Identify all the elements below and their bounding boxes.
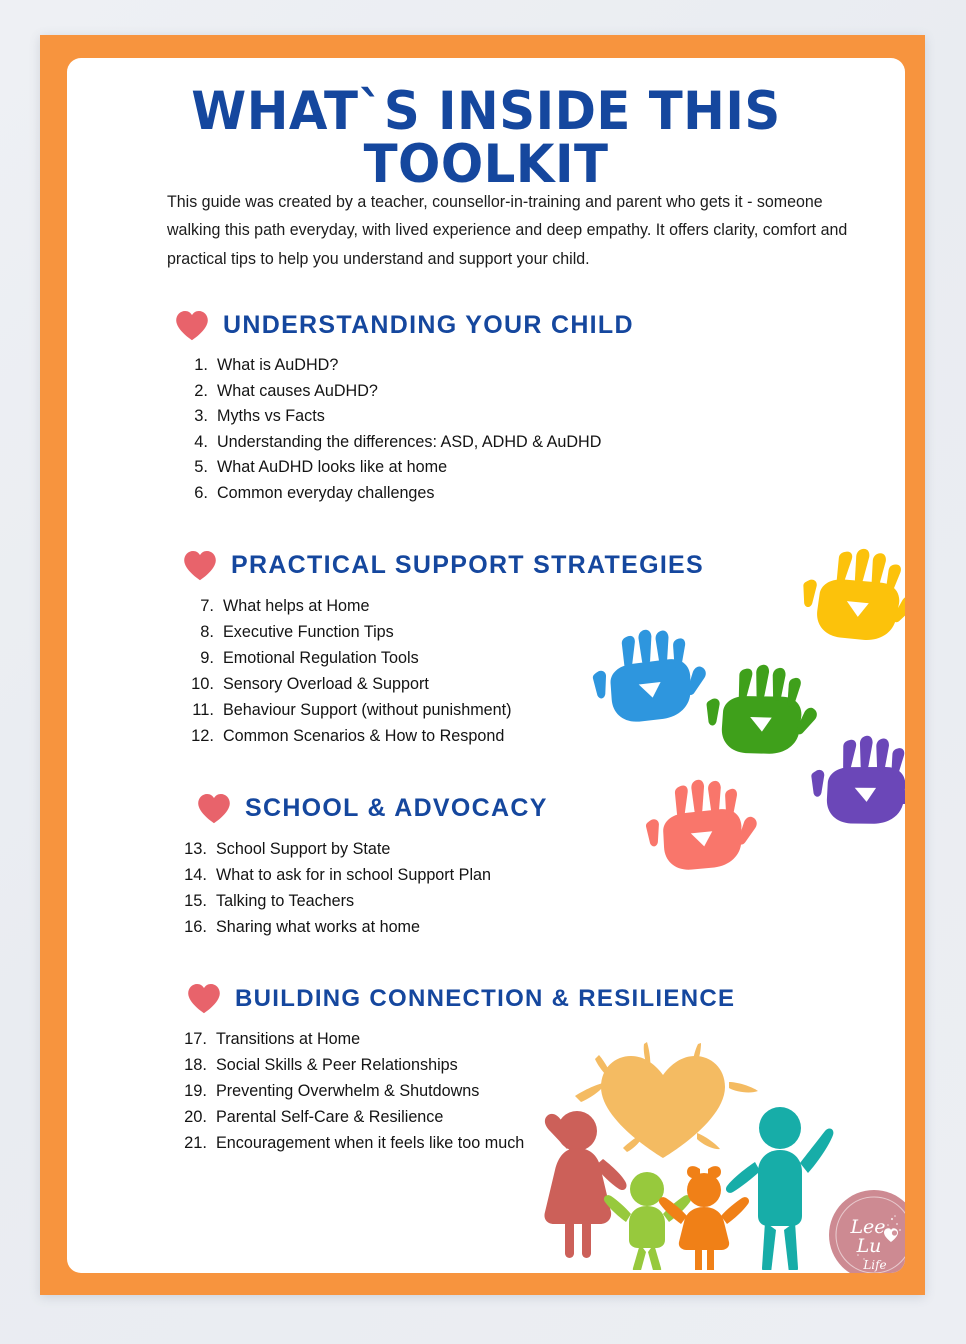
- list-item[interactable]: 17.Transitions at Home: [182, 1031, 857, 1048]
- family-figure-child-girl: [659, 1166, 749, 1270]
- list-item-number: 18.: [182, 1057, 216, 1074]
- list-item[interactable]: 14.What to ask for in school Support Pla…: [182, 867, 857, 884]
- list-item-number: 14.: [182, 867, 216, 884]
- intro-paragraph: This guide was created by a teacher, cou…: [167, 188, 865, 273]
- list-item-label: Understanding the differences: ASD, ADHD…: [217, 434, 844, 451]
- list-item-label: Behaviour Support (without punishment): [223, 702, 844, 719]
- logo-line-2: Lu: [856, 1235, 882, 1257]
- toc-list: 7.What helps at Home 8.Executive Functio…: [189, 598, 857, 745]
- toc-list: 17.Transitions at Home 18.Social Skills …: [182, 1031, 857, 1152]
- list-item-label: What AuDHD looks like at home: [217, 459, 844, 476]
- list-item[interactable]: 10.Sensory Overload & Support: [189, 676, 857, 693]
- list-item[interactable]: 20.Parental Self-Care & Resilience: [182, 1109, 857, 1126]
- list-item-label: What causes AuDHD?: [217, 383, 844, 400]
- heart-icon: [197, 793, 231, 824]
- list-item-number: 5.: [183, 459, 217, 476]
- list-item-label: Transitions at Home: [216, 1031, 844, 1048]
- section-title: UNDERSTANDING YOUR CHILD: [223, 311, 634, 340]
- list-item-number: 1.: [183, 357, 217, 374]
- list-item[interactable]: 11.Behaviour Support (without punishment…: [189, 702, 857, 719]
- section-title: SCHOOL & ADVOCACY: [245, 794, 548, 823]
- section-header: BUILDING CONNECTION & RESILIENCE: [187, 983, 857, 1014]
- list-item-number: 16.: [182, 919, 216, 936]
- list-item-number: 11.: [189, 702, 223, 719]
- toc-list: 13.School Support by State 14.What to as…: [182, 841, 857, 936]
- list-item-number: 12.: [189, 728, 223, 745]
- list-item-label: Sensory Overload & Support: [223, 676, 844, 693]
- list-item[interactable]: 3.Myths vs Facts: [183, 408, 857, 425]
- list-item[interactable]: 2.What causes AuDHD?: [183, 383, 857, 400]
- list-item[interactable]: 7.What helps at Home: [189, 598, 857, 615]
- section-title: BUILDING CONNECTION & RESILIENCE: [235, 985, 735, 1013]
- list-item-label: School Support by State: [216, 841, 844, 858]
- list-item-label: Common Scenarios & How to Respond: [223, 728, 844, 745]
- section-practical-support-strategies: PRACTICAL SUPPORT STRATEGIES 7.What help…: [157, 550, 857, 754]
- heart-icon: [175, 310, 209, 341]
- list-item[interactable]: 18.Social Skills & Peer Relationships: [182, 1057, 857, 1074]
- list-item-label: Sharing what works at home: [216, 919, 844, 936]
- section-header: SCHOOL & ADVOCACY: [197, 793, 857, 824]
- list-item[interactable]: 12.Common Scenarios & How to Respond: [189, 728, 857, 745]
- list-item-number: 20.: [182, 1109, 216, 1126]
- list-item-label: Common everyday challenges: [217, 485, 844, 502]
- list-item-label: Emotional Regulation Tools: [223, 650, 844, 667]
- list-item[interactable]: 9.Emotional Regulation Tools: [189, 650, 857, 667]
- list-item-number: 8.: [189, 624, 223, 641]
- list-item[interactable]: 5.What AuDHD looks like at home: [183, 459, 857, 476]
- list-item-number: 21.: [182, 1135, 216, 1152]
- toc-list: 1.What is AuDHD? 2.What causes AuDHD? 3.…: [183, 357, 857, 501]
- list-item-label: Encouragement when it feels like too muc…: [216, 1135, 844, 1152]
- list-item-number: 10.: [189, 676, 223, 693]
- list-item-label: What helps at Home: [223, 598, 844, 615]
- list-item-number: 13.: [182, 841, 216, 858]
- list-item[interactable]: 16.Sharing what works at home: [182, 919, 857, 936]
- list-item-number: 3.: [183, 408, 217, 425]
- list-item-label: Preventing Overwhelm & Shutdowns: [216, 1083, 844, 1100]
- list-item[interactable]: 19.Preventing Overwhelm & Shutdowns: [182, 1083, 857, 1100]
- list-item-label: Executive Function Tips: [223, 624, 844, 641]
- section-header: PRACTICAL SUPPORT STRATEGIES: [183, 550, 857, 581]
- list-item-number: 2.: [183, 383, 217, 400]
- list-item-label: Parental Self-Care & Resilience: [216, 1109, 844, 1126]
- logo-line-1: Lee: [849, 1216, 885, 1238]
- list-item-label: What to ask for in school Support Plan: [216, 867, 844, 884]
- list-item-number: 15.: [182, 893, 216, 910]
- section-understanding-your-child: UNDERSTANDING YOUR CHILD 1.What is AuDHD…: [157, 310, 857, 510]
- page-sheet: WHAT`S INSIDE THIS TOOLKIT This guide wa…: [67, 58, 905, 1273]
- list-item[interactable]: 1.What is AuDHD?: [183, 357, 857, 374]
- section-title: PRACTICAL SUPPORT STRATEGIES: [231, 551, 704, 580]
- list-item-number: 6.: [183, 485, 217, 502]
- section-header: UNDERSTANDING YOUR CHILD: [175, 310, 857, 341]
- list-item-label: What is AuDHD?: [217, 357, 844, 374]
- list-item[interactable]: 8.Executive Function Tips: [189, 624, 857, 641]
- list-item-number: 4.: [183, 434, 217, 451]
- logo-heart-icon: [884, 1228, 898, 1242]
- page-title: WHAT`S INSIDE THIS TOOLKIT: [92, 85, 880, 191]
- list-item-number: 17.: [182, 1031, 216, 1048]
- lee-lu-life-logo: Lee Lu Life: [828, 1189, 905, 1273]
- family-figure-child-boy: [604, 1172, 691, 1270]
- logo-line-3: Life: [862, 1258, 886, 1272]
- heart-icon: [183, 550, 217, 581]
- page-content: WHAT`S INSIDE THIS TOOLKIT This guide wa…: [67, 58, 905, 1273]
- list-item[interactable]: 21.Encouragement when it feels like too …: [182, 1135, 857, 1152]
- list-item[interactable]: 6.Common everyday challenges: [183, 485, 857, 502]
- list-item-label: Social Skills & Peer Relationships: [216, 1057, 844, 1074]
- list-item-number: 7.: [189, 598, 223, 615]
- list-item[interactable]: 4.Understanding the differences: ASD, AD…: [183, 434, 857, 451]
- section-building-connection-and-resilience: BUILDING CONNECTION & RESILIENCE 17.Tran…: [157, 983, 857, 1161]
- list-item-number: 19.: [182, 1083, 216, 1100]
- list-item-label: Myths vs Facts: [217, 408, 844, 425]
- list-item[interactable]: 13.School Support by State: [182, 841, 857, 858]
- heart-icon: [187, 983, 221, 1014]
- page-orange-frame: WHAT`S INSIDE THIS TOOLKIT This guide wa…: [40, 35, 925, 1295]
- list-item-number: 9.: [189, 650, 223, 667]
- list-item-label: Talking to Teachers: [216, 893, 844, 910]
- section-school-and-advocacy: SCHOOL & ADVOCACY 13.School Support by S…: [157, 793, 857, 945]
- list-item[interactable]: 15.Talking to Teachers: [182, 893, 857, 910]
